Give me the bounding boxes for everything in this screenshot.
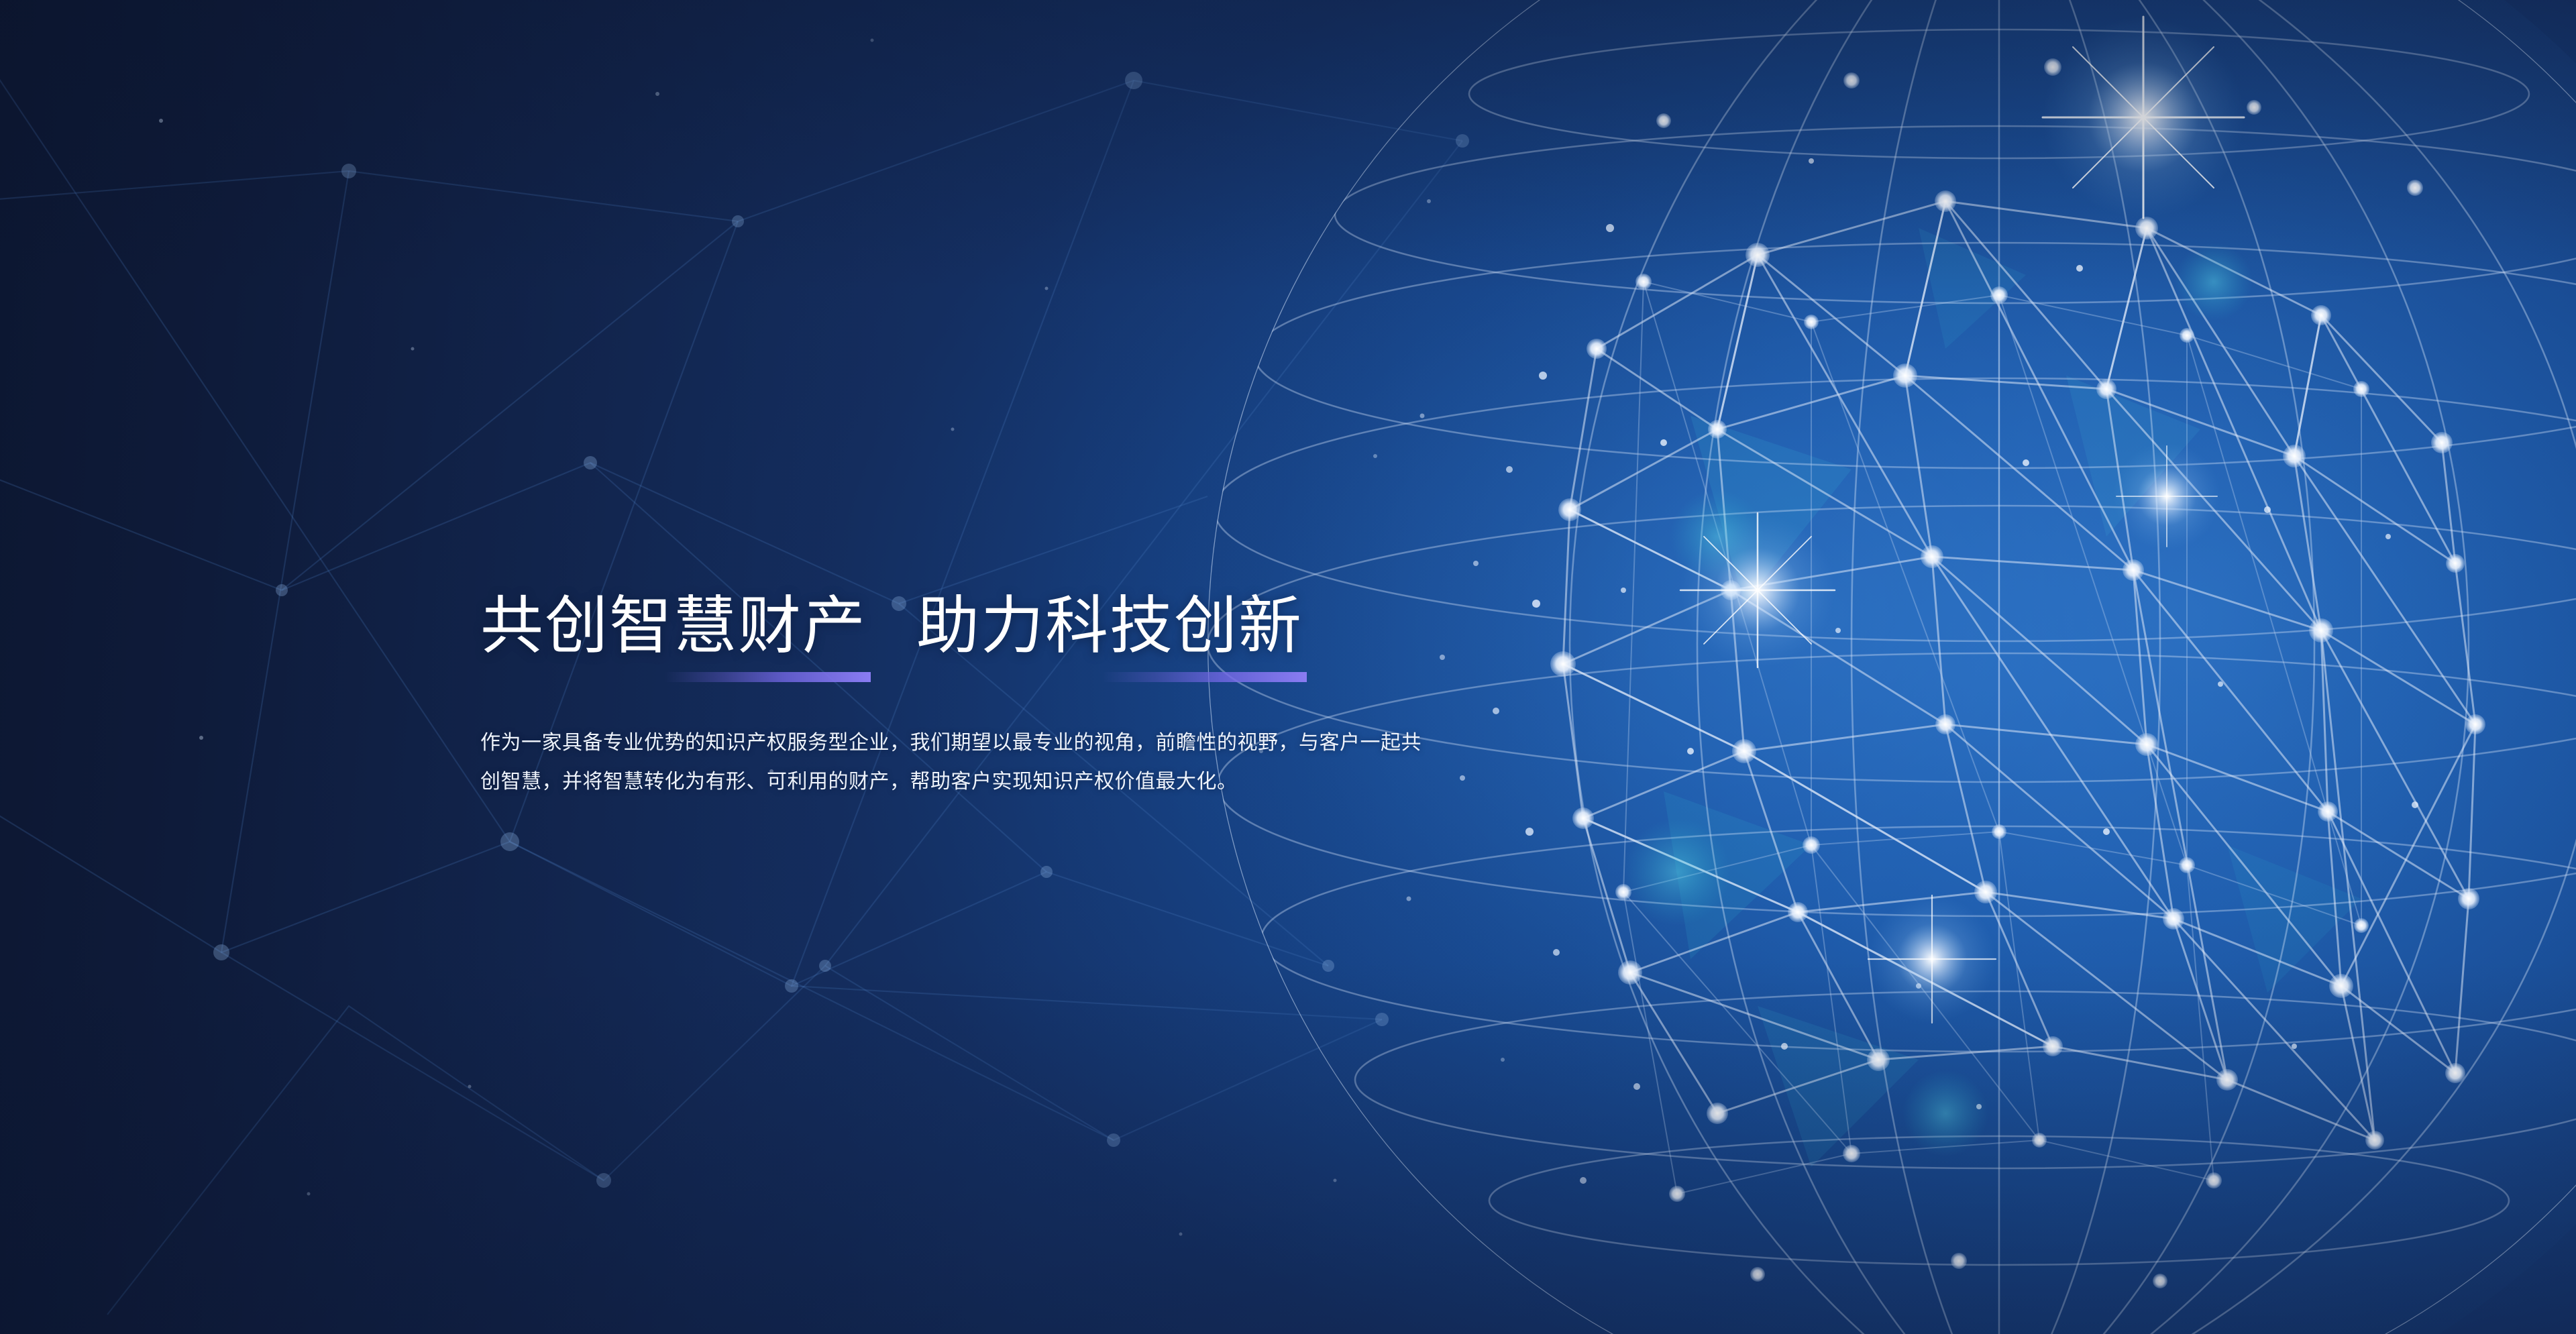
headline-phrase-1-text: 共创智慧财产 [480, 590, 867, 661]
headline-phrase-2-text: 助力科技创新 [916, 590, 1303, 661]
banner-hero: 共创智慧财产 助力科技创新 作为一家具备专业优势的知识产权服务型企业，我们期望以… [0, 0, 2576, 1334]
headline-underline-2 [1102, 672, 1307, 682]
hero-content: 共创智慧财产 助力科技创新 作为一家具备专业优势的知识产权服务型企业，我们期望以… [480, 550, 1487, 822]
headline-phrase-1: 共创智慧财产 [480, 592, 867, 659]
headline-underline-1 [665, 672, 871, 682]
hero-description: 作为一家具备专业优势的知识产权服务型企业，我们期望以最专业的视角，前瞻性的视野，… [480, 724, 1433, 801]
page-title: 共创智慧财产 助力科技创新 [480, 592, 1487, 659]
headline-phrase-2: 助力科技创新 [916, 592, 1303, 659]
